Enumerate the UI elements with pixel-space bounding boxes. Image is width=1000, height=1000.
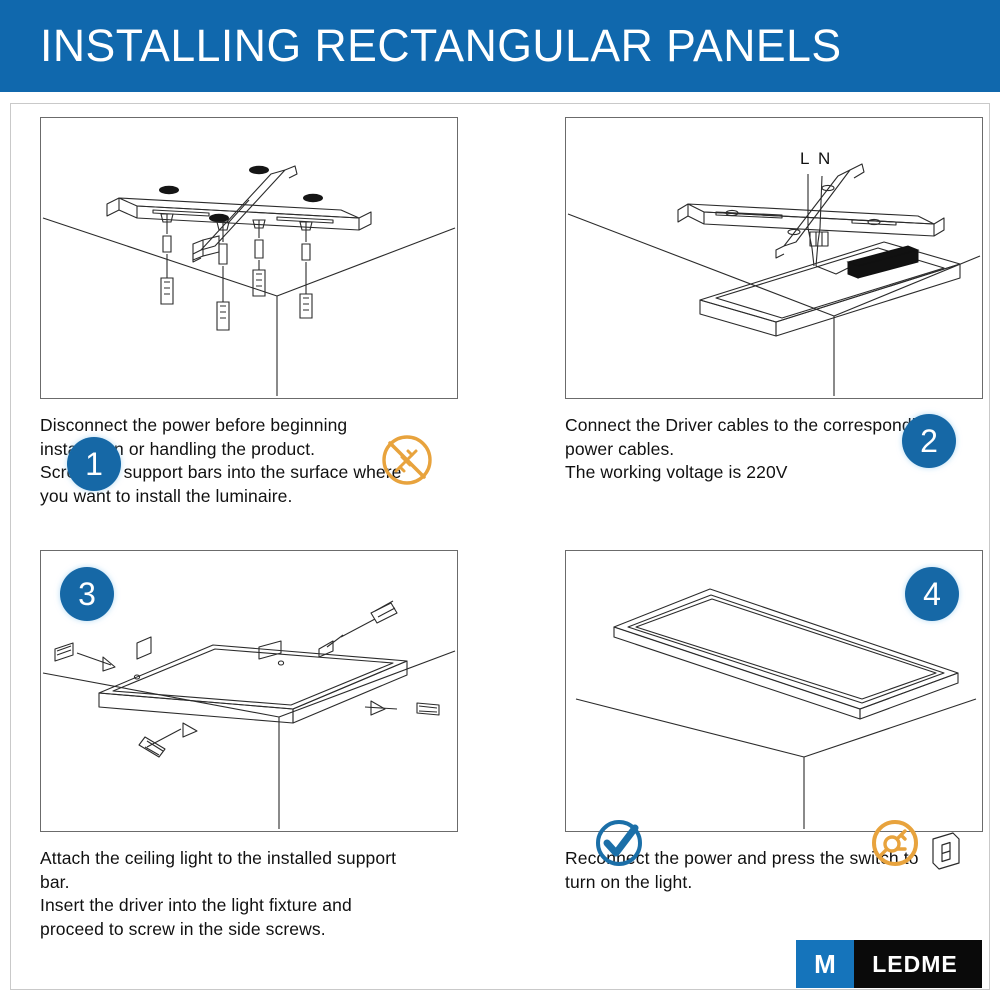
step-2: L N 2 Connect the Driver cables to the c… <box>565 117 983 485</box>
wire-label-n: N <box>818 149 830 168</box>
step-4-badge: 4 <box>905 567 959 621</box>
step-1-badge: 1 <box>67 437 121 491</box>
panel-driver-wiring-drawing: L N <box>566 118 982 398</box>
step-1: 1 Disconnect the power before beginning … <box>40 117 458 508</box>
page-title: INSTALLING RECTANGULAR PANELS <box>40 23 842 69</box>
wire-label-l: L <box>800 149 809 168</box>
page-header: INSTALLING RECTANGULAR PANELS <box>0 0 1000 92</box>
step-1-illustration <box>40 117 458 399</box>
step-2-badge: 2 <box>902 414 956 468</box>
step-3: 3 Attach the ceiling light to the instal… <box>40 550 458 941</box>
ceiling-support-bars-drawing <box>41 118 457 398</box>
step-3-badge: 3 <box>60 567 114 621</box>
step-3-caption: Attach the ceiling light to the installe… <box>40 847 458 941</box>
steps-grid: 1 Disconnect the power before beginning … <box>0 92 1000 1000</box>
logo-mark: M <box>796 940 854 988</box>
step-4: 4 <box>565 550 983 894</box>
wall-switch-icon <box>929 829 963 876</box>
step-2-illustration: L N <box>565 117 983 399</box>
brand-logo: M LEDME <box>796 940 982 988</box>
plug-circle-icon <box>867 815 923 876</box>
check-circle-icon <box>591 815 647 876</box>
no-plug-icon <box>378 431 436 494</box>
logo-wordmark: LEDME <box>854 940 982 988</box>
